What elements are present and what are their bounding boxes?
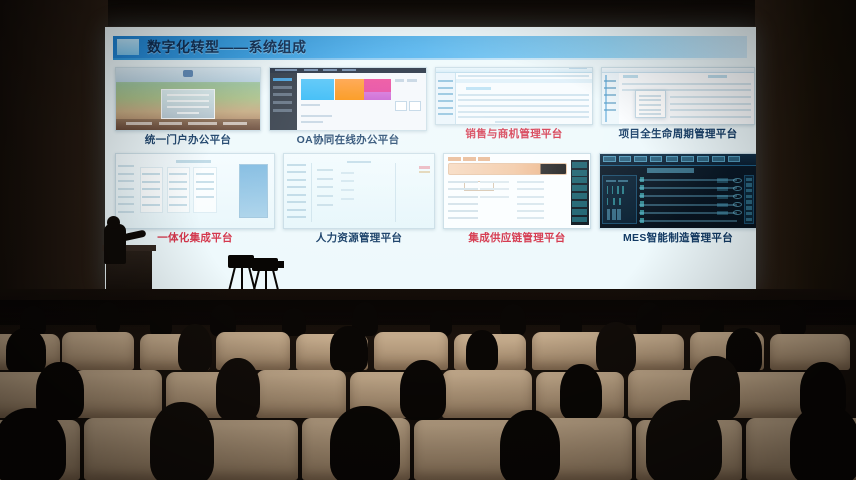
platform-card-mes[interactable]: MES智能制造管理平台 <box>599 153 756 245</box>
platform-card-hr[interactable]: 人力资源管理平台 <box>283 153 435 245</box>
slide-title: 数字化转型——系统组成 <box>147 37 307 57</box>
platform-card-scm[interactable]: 集成供应链管理平台 <box>443 153 591 245</box>
screenshot-integration <box>115 153 275 229</box>
caption-oa: OA协同在线办公平台 <box>269 134 427 147</box>
platform-card-project[interactable]: 项目全生命周期管理平台 <box>601 67 755 141</box>
audience-seating <box>0 300 856 480</box>
caption-portal: 统一门户办公平台 <box>115 134 261 147</box>
caption-mes: MES智能制造管理平台 <box>599 232 756 245</box>
platform-card-portal[interactable]: 统一门户办公平台 <box>115 67 261 147</box>
screenshot-sales <box>435 67 593 125</box>
title-accent-square <box>117 39 139 55</box>
caption-hr: 人力资源管理平台 <box>283 232 435 245</box>
speaker-body <box>104 224 126 264</box>
room-ceiling <box>0 0 856 26</box>
platform-card-sales[interactable]: 销售与商机管理平台 <box>435 67 593 141</box>
screenshot-hr <box>283 153 435 229</box>
caption-scm: 集成供应链管理平台 <box>443 232 591 245</box>
screenshot-mes <box>599 153 756 229</box>
projection-screen: 数字化转型——系统组成 统一门户办公平台 <box>105 27 756 289</box>
platform-card-oa[interactable]: OA协同在线办公平台 <box>269 67 427 147</box>
thumbnail-row-2: 一体化集成平台 人力资源管理平台 <box>115 153 747 245</box>
speaker-head <box>107 216 120 229</box>
screenshot-portal <box>115 67 261 131</box>
screenshot-project <box>601 67 755 125</box>
platform-thumbnail-grid: 统一门户办公平台 OA协同在线办公平台 <box>115 67 747 245</box>
conference-photo-scene: 数字化转型——系统组成 统一门户办公平台 <box>0 0 856 480</box>
room-wall-right <box>755 0 856 305</box>
caption-project: 项目全生命周期管理平台 <box>601 128 755 141</box>
title-underline <box>113 58 747 60</box>
screenshot-scm <box>443 153 591 229</box>
room-wall-left <box>0 0 108 300</box>
caption-sales: 销售与商机管理平台 <box>435 128 593 141</box>
thumbnail-row-1: 统一门户办公平台 OA协同在线办公平台 <box>115 67 747 147</box>
screenshot-oa <box>269 67 427 131</box>
